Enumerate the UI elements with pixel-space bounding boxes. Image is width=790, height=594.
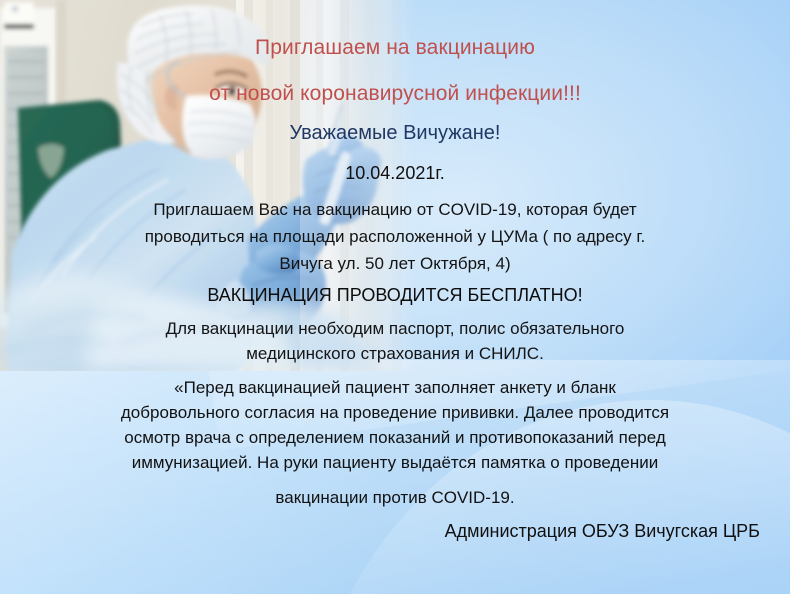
quote-line-3: осмотр врача с определением показаний и … — [0, 428, 790, 448]
invite-line-3: Вичуга ул. 50 лет Октября, 4) — [0, 254, 790, 274]
text-content-layer: Приглашаем на вакцинацию от новой корона… — [0, 0, 790, 594]
documents-line-1: Для вакцинации необходим паспорт, полис … — [0, 319, 790, 339]
greeting-line: Уважаемые Вичужане! — [0, 122, 790, 145]
invite-line-1: Приглашаем Вас на вакцинацию от COVID-19… — [0, 200, 790, 220]
free-vaccination-notice: ВАКЦИНАЦИЯ ПРОВОДИТСЯ БЕСПЛАТНО! — [0, 285, 790, 306]
heading-line-2: от новой коронавирусной инфекции!!! — [0, 82, 790, 106]
quote-line-5: вакцинации против COVID-19. — [0, 488, 790, 508]
announcement-slide: Приглашаем на вакцинацию от новой корона… — [0, 0, 790, 594]
heading-line-1: Приглашаем на вакцинацию — [0, 36, 790, 60]
documents-line-2: медицинского страхования и СНИЛС. — [0, 344, 790, 364]
signature-line: Администрация ОБУЗ Вичугская ЦРБ — [0, 521, 760, 542]
quote-line-2: добровольного согласия на проведение при… — [0, 403, 790, 423]
invite-line-2: проводиться на площади расположенной у Ц… — [0, 227, 790, 247]
date-line: 10.04.2021г. — [0, 163, 790, 184]
quote-line-4: иммунизацией. На руки пациенту выдаётся … — [0, 453, 790, 473]
quote-line-1: «Перед вакцинацией пациент заполняет анк… — [0, 378, 790, 398]
